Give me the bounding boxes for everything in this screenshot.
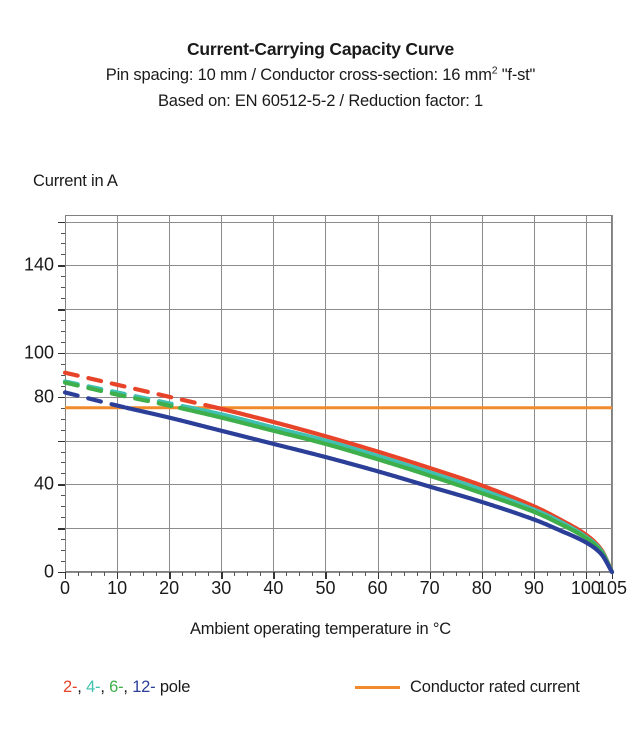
x-tick-label: 50: [315, 578, 335, 599]
curve-4-pole: [191, 408, 612, 572]
y-axis-title: Current in A: [33, 172, 118, 191]
legend-pole-part: ,: [100, 678, 109, 696]
x-tick-minor: [78, 572, 79, 576]
legend-rated-current: Conductor rated current: [355, 678, 580, 697]
legend-pole-part: 2-: [63, 678, 77, 696]
x-tick-minor: [104, 572, 105, 576]
x-tick-minor: [195, 572, 196, 576]
x-tick-minor: [130, 572, 131, 576]
chart-subtitle-line-2: Based on: EN 60512-5-2 / Reduction facto…: [0, 88, 641, 114]
subtitle-prefix: Pin spacing: 10 mm / Conductor cross-sec…: [106, 66, 492, 84]
legend-pole-part: ,: [123, 678, 132, 696]
x-tick-minor: [143, 572, 144, 576]
x-tick-minor: [182, 572, 183, 576]
x-tick-label: 90: [524, 578, 544, 599]
legend-pole-part: 4-: [86, 678, 100, 696]
x-tick-minor: [508, 572, 509, 576]
legend-pole-part: 6-: [109, 678, 123, 696]
y-tick-label: 40: [34, 474, 54, 495]
subtitle-suffix: "f-st": [497, 66, 535, 84]
x-tick-minor: [495, 572, 496, 576]
x-axis-title: Ambient operating temperature in °C: [0, 620, 641, 639]
gridline-vertical: [612, 215, 613, 572]
y-tick-label: 0: [44, 562, 54, 583]
y-tick-major: [58, 572, 65, 573]
y-axis-tick-labels: 04080100140: [14, 215, 54, 572]
curve-layer: [65, 215, 612, 572]
x-tick-label: 20: [159, 578, 179, 599]
x-tick-label: 30: [211, 578, 231, 599]
x-tick-minor: [339, 572, 340, 576]
y-tick-major: [58, 441, 65, 442]
y-tick-label: 80: [34, 386, 54, 407]
y-tick-major: [58, 222, 65, 223]
plot-area: [65, 215, 612, 572]
x-tick-minor: [208, 572, 209, 576]
curve-6-pole: [180, 408, 612, 572]
x-tick-minor: [391, 572, 392, 576]
x-tick-minor: [573, 572, 574, 576]
x-tick-label: 0: [60, 578, 70, 599]
legend-rated-current-label: Conductor rated current: [410, 678, 580, 697]
x-tick-minor: [599, 572, 600, 576]
y-tick-label: 140: [24, 255, 54, 276]
x-tick-minor: [286, 572, 287, 576]
x-tick-minor: [247, 572, 248, 576]
x-tick-minor: [547, 572, 548, 576]
x-tick-minor: [404, 572, 405, 576]
page-title: Current-Carrying Capacity Curve: [0, 36, 641, 62]
x-tick-label: 70: [420, 578, 440, 599]
x-tick-minor: [312, 572, 313, 576]
y-tick-major: [58, 528, 65, 529]
y-tick-major: [58, 265, 65, 266]
y-tick-major: [58, 397, 65, 398]
x-tick-minor: [156, 572, 157, 576]
x-tick-minor: [560, 572, 561, 576]
x-tick-minor: [456, 572, 457, 576]
x-tick-label: 60: [368, 578, 388, 599]
legend-pole-part: ,: [77, 678, 86, 696]
curve-12-pole: [127, 408, 612, 572]
x-tick-minor: [365, 572, 366, 576]
x-tick-minor: [417, 572, 418, 576]
x-tick-minor: [443, 572, 444, 576]
chart-title-block: Current-Carrying Capacity Curve Pin spac…: [0, 36, 641, 114]
x-tick-minor: [521, 572, 522, 576]
legend-pole-part: 12-: [132, 678, 155, 696]
curve-2-pole: [65, 373, 217, 408]
x-tick-label: 40: [263, 578, 283, 599]
chart-page: Current-Carrying Capacity Curve Pin spac…: [0, 0, 641, 752]
x-tick-minor: [299, 572, 300, 576]
x-tick-label: 105: [597, 578, 627, 599]
legend-pole-part: pole: [155, 678, 190, 696]
y-tick-major: [58, 309, 65, 310]
x-tick-label: 80: [472, 578, 492, 599]
y-tick-major: [58, 484, 65, 485]
curve-4-pole: [65, 381, 191, 407]
x-tick-minor: [234, 572, 235, 576]
y-tick-label: 100: [24, 342, 54, 363]
x-tick-label: 10: [107, 578, 127, 599]
y-tick-major: [58, 353, 65, 354]
x-tick-minor: [91, 572, 92, 576]
legend-pole-series: 2-, 4-, 6-, 12- pole: [63, 678, 190, 697]
x-tick-minor: [352, 572, 353, 576]
chart-subtitle-line-1: Pin spacing: 10 mm / Conductor cross-sec…: [0, 62, 641, 88]
rated-current-line-icon: [355, 686, 400, 690]
x-tick-minor: [260, 572, 261, 576]
x-tick-minor: [469, 572, 470, 576]
